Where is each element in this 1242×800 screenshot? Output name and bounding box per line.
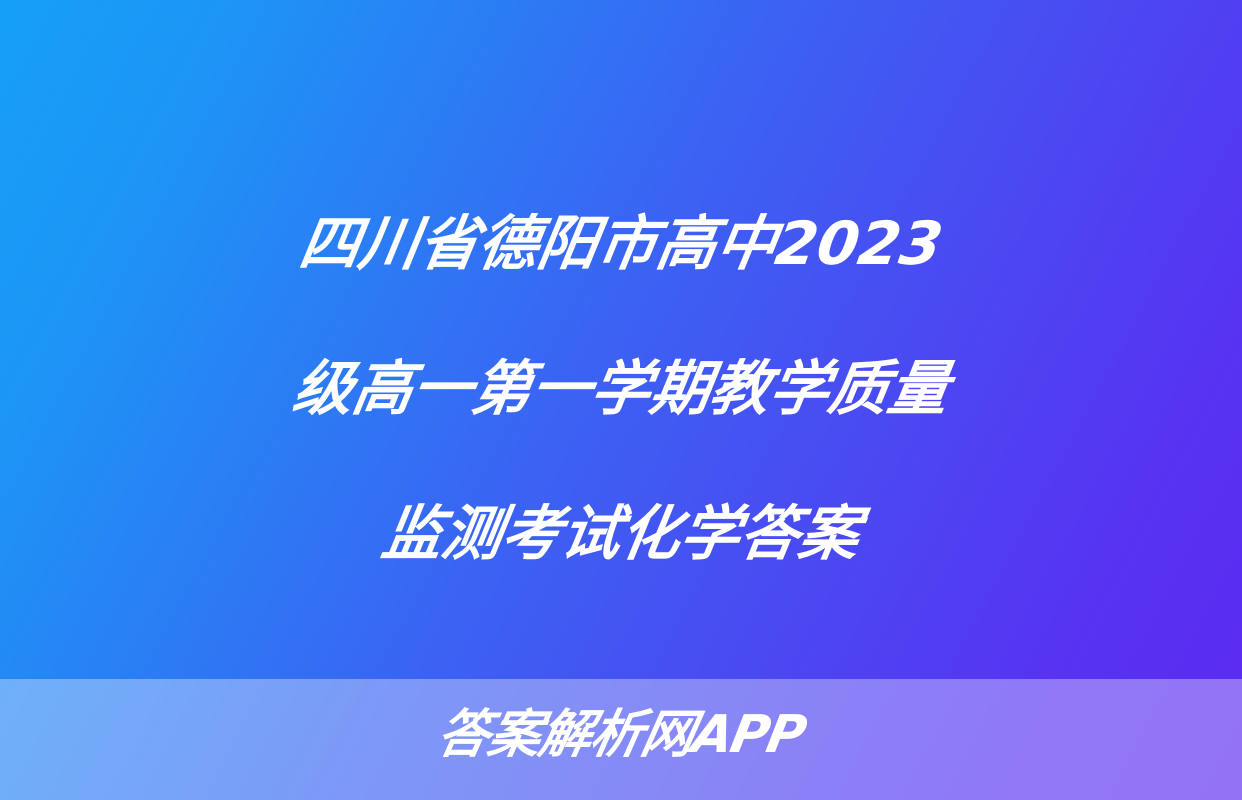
watermark-app-label: APP (687, 705, 809, 765)
title-line-2: 级高一第一学期教学质量 (0, 317, 1242, 462)
watermark-brand-label: 答案解析网 (432, 705, 699, 765)
page-title: 四川省德阳市高中2023 级高一第一学期教学质量 监测考试化学答案 (0, 172, 1242, 607)
watermark-inner: 答案解析网APP (432, 705, 809, 765)
watermark: 答案解析网APP (0, 705, 1242, 765)
title-line-3: 监测考试化学答案 (0, 462, 1242, 607)
banner-canvas: 四川省德阳市高中2023 级高一第一学期教学质量 监测考试化学答案 答案解析网A… (0, 0, 1242, 800)
title-line-1: 四川省德阳市高中2023 (0, 172, 1242, 317)
